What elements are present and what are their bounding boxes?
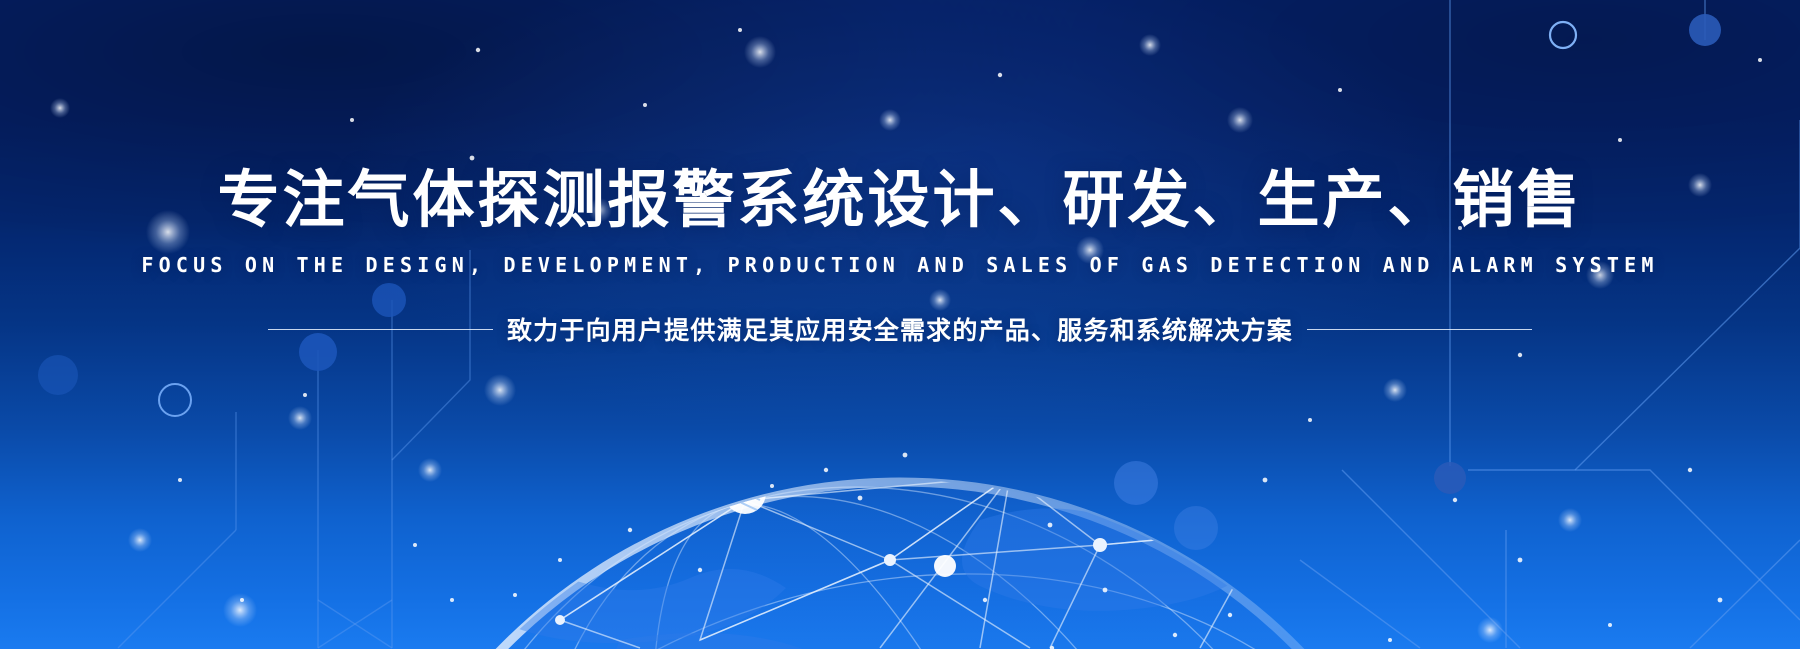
banner-copy: 专注气体探测报警系统设计、研发、生产、销售 FOCUS ON THE DESIG… bbox=[0, 0, 1800, 347]
divider-rule-right bbox=[1307, 329, 1532, 330]
globe-mesh bbox=[560, 476, 1420, 648]
globe-nodes bbox=[555, 467, 1425, 625]
globe-highlight-nodes bbox=[724, 436, 1377, 577]
tagline-row: 致力于向用户提供满足其应用安全需求的产品、服务和系统解决方案 bbox=[0, 311, 1800, 347]
divider-rule-left bbox=[268, 329, 493, 330]
tagline-text: 致力于向用户提供满足其应用安全需求的产品、服务和系统解决方案 bbox=[507, 311, 1293, 347]
hero-banner: 专注气体探测报警系统设计、研发、生产、销售 FOCUS ON THE DESIG… bbox=[0, 0, 1800, 649]
globe-graticule bbox=[227, 359, 1573, 649]
page-title: 专注气体探测报警系统设计、研发、生产、销售 bbox=[0, 0, 1800, 233]
subtitle-english: FOCUS ON THE DESIGN, DEVELOPMENT, PRODUC… bbox=[0, 253, 1800, 277]
globe-landmass bbox=[430, 508, 1280, 649]
